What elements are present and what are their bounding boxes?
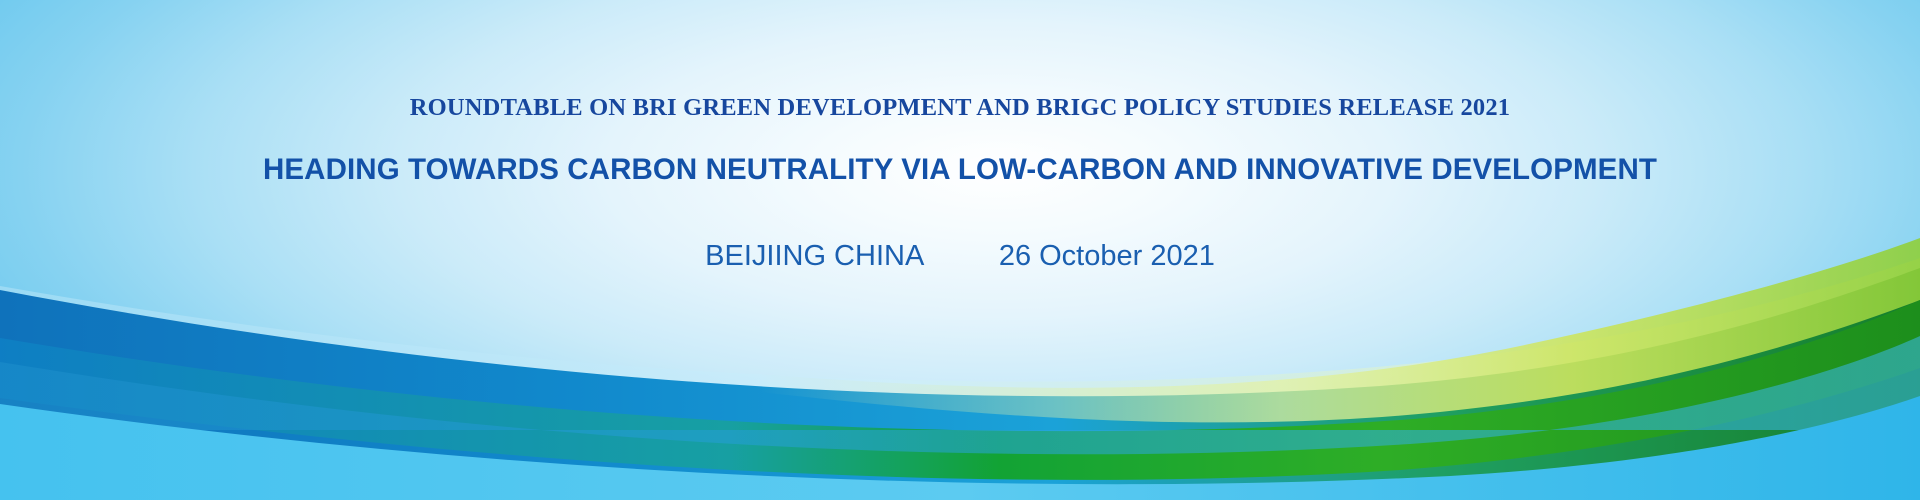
event-location: BEIJIING CHINA [705,240,923,272]
event-meta: BEIJIING CHINA 26 October 2021 [0,240,1920,273]
page-title: HEADING TOWARDS CARBON NEUTRALITY VIA LO… [0,153,1920,187]
banner-text-block: ROUNDTABLE ON BRI GREEN DEVELOPMENT AND … [0,0,1920,500]
conference-banner: ROUNDTABLE ON BRI GREEN DEVELOPMENT AND … [0,0,1920,500]
event-subtitle: ROUNDTABLE ON BRI GREEN DEVELOPMENT AND … [0,94,1920,122]
event-date: 26 October 2021 [999,240,1215,272]
